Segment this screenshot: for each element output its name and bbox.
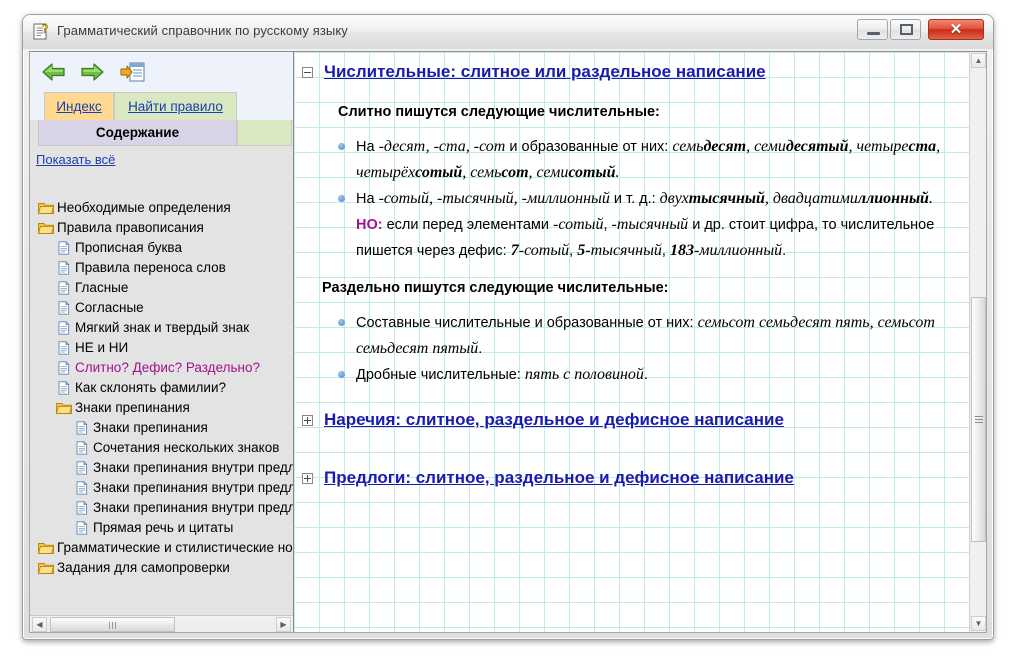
tree-item-label: Мягкий знак и твердый знак: [75, 320, 249, 335]
back-arrow-icon[interactable]: [40, 60, 68, 84]
tree-item[interactable]: Гласные: [30, 278, 293, 298]
tree-item-label: Слитно? Дефис? Раздельно?: [75, 360, 260, 375]
content-vertical-scrollbar[interactable]: ▲ ▼: [969, 52, 986, 632]
bullet-list-1: На -десят, -ста, -сот и образованные от …: [334, 134, 972, 264]
tab-find-rule-label[interactable]: Найти правило: [128, 99, 223, 114]
text-run: -сотый: [553, 216, 603, 233]
text-run: -тысячный: [612, 216, 689, 233]
list-item: Дробные числительные: пять с половиной.: [334, 362, 972, 388]
forward-arrow-icon[interactable]: [78, 60, 106, 84]
page-icon: [56, 381, 72, 395]
application-window: ? Грамматический справочник по русскому …: [22, 14, 994, 640]
tree-item[interactable]: Сочетания нескольких знаков: [30, 438, 293, 458]
tree-item-label: Грамматические и стилистические нормы: [57, 540, 293, 555]
text-run: двадцатими: [773, 190, 858, 207]
text-run: ,: [936, 138, 940, 155]
tab-strip-filler: [237, 120, 292, 146]
text-run: сотый: [568, 164, 615, 181]
text-run: ,: [765, 190, 773, 207]
folder-icon: [38, 221, 54, 235]
tree-item-label: Прямая речь и цитаты: [93, 520, 233, 535]
text-run: семь: [470, 164, 501, 181]
text-run: ста: [909, 138, 937, 155]
tree-item-label: Согласные: [75, 300, 144, 315]
text-run: .: [478, 341, 482, 357]
text-run: -сотый: [519, 242, 569, 259]
tree-item[interactable]: Правила правописания: [30, 218, 293, 238]
text-run: -тысячный: [585, 242, 662, 259]
lead-text-1: Слитно пишутся следующие числительные:: [338, 104, 972, 120]
tree-item[interactable]: Знаки препинания внутри предложения: [30, 478, 293, 498]
collapse-expander-icon[interactable]: [302, 67, 313, 78]
tab-contents-label: Содержание: [96, 125, 179, 140]
svg-text:?: ?: [42, 22, 49, 36]
page-icon: [74, 421, 90, 435]
scrollbar-grip-icon: [109, 622, 118, 629]
scrollbar-grip-icon: [975, 416, 983, 424]
tree-item[interactable]: Знаки препинания: [30, 398, 293, 418]
text-run: На: [356, 139, 379, 155]
tree-item[interactable]: Необходимые определения: [30, 198, 293, 218]
page-icon: [74, 521, 90, 535]
folder-icon: [38, 561, 54, 575]
page-icon: [74, 461, 90, 475]
tab-strip: Индекс Найти правило: [30, 92, 293, 120]
text-run: .: [782, 243, 786, 259]
text-run: ,: [603, 217, 611, 233]
list-item: Составные числительные и образованные от…: [334, 310, 972, 362]
section-heading-3[interactable]: Предлоги: слитное, раздельное и дефисное…: [294, 468, 972, 488]
tree-item[interactable]: Прямая речь и цитаты: [30, 518, 293, 538]
scrollbar-thumb[interactable]: [50, 617, 175, 632]
tab-index-label[interactable]: Индекс: [56, 99, 101, 114]
tree-item-label: Сочетания нескольких знаков: [93, 440, 279, 455]
text-run: сотый: [415, 164, 462, 181]
text-run: ллионный: [858, 190, 929, 207]
tree-item[interactable]: Грамматические и стилистические нормы: [30, 538, 293, 558]
text-run: и образованные от них:: [505, 139, 672, 155]
scroll-down-arrow-icon[interactable]: ▼: [971, 616, 986, 631]
expand-expander-icon[interactable]: [302, 415, 313, 426]
text-run: 7: [511, 242, 519, 259]
page-icon: [56, 261, 72, 275]
close-icon: ✕: [929, 20, 983, 39]
navigation-pane: Индекс Найти правило Содержание Показать…: [30, 52, 294, 632]
scroll-right-arrow-icon[interactable]: ▶: [276, 617, 291, 632]
text-run: десятый: [786, 138, 849, 155]
show-all-link[interactable]: Показать всё: [36, 152, 115, 167]
text-run: .: [616, 164, 620, 181]
text-run: .: [929, 190, 933, 207]
tree-item-label: Правила переноса слов: [75, 260, 226, 275]
text-run: ,: [849, 138, 857, 155]
page-icon: [56, 361, 72, 375]
contents-tree[interactable]: Необходимые определенияПравила правописа…: [30, 198, 293, 592]
title-bar[interactable]: ? Грамматический справочник по русскому …: [23, 15, 993, 49]
text-run: Дробные числительные:: [356, 367, 525, 383]
text-run: тысячный: [689, 190, 765, 207]
text-run: десят: [703, 138, 746, 155]
tree-item[interactable]: Задания для самопроверки: [30, 558, 293, 578]
tree-item-label: Как склонять фамилии?: [75, 380, 226, 395]
list-item: На -сотый, -тысячный, -миллионный и т. д…: [334, 186, 972, 264]
text-run: ,: [529, 164, 537, 181]
text-run: сот: [501, 164, 528, 181]
folder-icon: [56, 401, 72, 415]
tab-find-rule[interactable]: Найти правило: [114, 92, 237, 120]
text-run: -десят, -ста, -сот: [379, 138, 506, 155]
tree-item[interactable]: Согласные: [30, 298, 293, 318]
document-body: Числительные: слитное или раздельное нап…: [294, 52, 972, 632]
scrollbar-thumb[interactable]: [971, 297, 986, 542]
minimize-icon: [867, 32, 880, 35]
show-toc-icon[interactable]: [120, 60, 146, 84]
help-document-icon: ?: [33, 22, 51, 41]
text-run: Составные числительные и образованные от…: [356, 315, 698, 331]
sidebar-horizontal-scrollbar[interactable]: ◀ ▶: [30, 615, 293, 632]
tree-item[interactable]: Мягкий знак и твердый знак: [30, 318, 293, 338]
text-run: ,: [746, 138, 754, 155]
bullet-icon: [338, 143, 345, 150]
page-icon: [56, 241, 72, 255]
tree-item-label: НЕ и НИ: [75, 340, 128, 355]
text-run: 183: [670, 242, 694, 259]
folder-icon: [38, 201, 54, 215]
page-icon: [56, 321, 72, 335]
minimize-button[interactable]: [857, 19, 888, 40]
tab-index[interactable]: Индекс: [44, 92, 114, 120]
tree-item-label: Прописная буква: [75, 240, 182, 255]
tree-item-label: Необходимые определения: [57, 200, 231, 215]
tree-item[interactable]: Как склонять фамилии?: [30, 378, 293, 398]
page-icon: [74, 481, 90, 495]
lead-text-2: Раздельно пишутся следующие числительные…: [322, 280, 972, 296]
tree-item[interactable]: Знаки препинания внутри предложения: [30, 458, 293, 478]
scroll-left-arrow-icon[interactable]: ◀: [32, 617, 47, 632]
tree-item-label: Знаки препинания внутри предложения: [93, 460, 293, 475]
text-run: четырёх: [356, 164, 415, 181]
bullet-icon: [338, 319, 345, 326]
section-heading-1-label[interactable]: Числительные: слитное или раздельное нап…: [324, 62, 766, 81]
section-heading-2[interactable]: Наречия: слитное, раздельное и дефисное …: [294, 410, 972, 430]
text-run: .: [644, 367, 648, 383]
tree-item-label: Знаки препинания: [75, 400, 190, 415]
tree-item[interactable]: НЕ и НИ: [30, 338, 293, 358]
section-heading-3-label[interactable]: Предлоги: слитное, раздельное и дефисное…: [324, 468, 794, 487]
content-pane: Числительные: слитное или раздельное нап…: [294, 52, 986, 632]
tree-item[interactable]: Знаки препинания: [30, 418, 293, 438]
tree-item-label: Знаки препинания внутри предложения: [93, 500, 293, 515]
text-run: пять с половиной: [525, 366, 644, 383]
tab-contents[interactable]: Содержание: [38, 120, 237, 146]
nav-toolbar: [30, 52, 293, 92]
page-icon: [74, 501, 90, 515]
text-run: -сотый, -тысячный, -миллионный: [379, 190, 610, 207]
client-area: Индекс Найти правило Содержание Показать…: [29, 51, 987, 633]
folder-icon: [38, 541, 54, 555]
bullet-list-2: Составные числительные и образованные от…: [334, 310, 972, 388]
text-run: если перед элементами: [383, 217, 553, 233]
expand-expander-icon[interactable]: [302, 473, 313, 484]
section-heading-2-label[interactable]: Наречия: слитное, раздельное и дефисное …: [324, 410, 784, 429]
tree-item-label: Знаки препинания внутри предложения: [93, 480, 293, 495]
page-icon: [56, 301, 72, 315]
list-item: На -десят, -ста, -сот и образованные от …: [334, 134, 972, 186]
tree-item-label: Задания для самопроверки: [57, 560, 230, 575]
tree-item-label: Гласные: [75, 280, 128, 295]
scroll-up-arrow-icon[interactable]: ▲: [971, 53, 986, 68]
text-run: ,: [662, 243, 670, 259]
maximize-button[interactable]: [890, 19, 921, 40]
text-run: четыре: [857, 138, 909, 155]
note-prefix: НО:: [356, 217, 383, 233]
section-heading-1[interactable]: Числительные: слитное или раздельное нап…: [294, 62, 972, 82]
text-run: семи: [754, 138, 786, 155]
text-run: и т. д.:: [610, 191, 660, 207]
tree-item-label: Правила правописания: [57, 220, 204, 235]
tree-item-label: Знаки препинания: [93, 420, 208, 435]
tree-item[interactable]: Прописная буква: [30, 238, 293, 258]
tree-item[interactable]: Знаки препинания внутри предложения: [30, 498, 293, 518]
page-icon: [56, 341, 72, 355]
tree-item[interactable]: Слитно? Дефис? Раздельно?: [30, 358, 293, 378]
tree-item[interactable]: Правила переноса слов: [30, 258, 293, 278]
close-button[interactable]: ✕: [928, 19, 984, 40]
text-run: двух: [660, 190, 689, 207]
bullet-icon: [338, 371, 345, 378]
text-run: На: [356, 191, 379, 207]
text-run: семи: [537, 164, 569, 181]
bullet-icon: [338, 195, 345, 202]
text-run: семь: [672, 138, 703, 155]
window-title: Грамматический справочник по русскому яз…: [57, 23, 348, 38]
maximize-icon: [900, 24, 913, 35]
page-icon: [74, 441, 90, 455]
text-run: -миллионный: [694, 242, 782, 259]
page-icon: [56, 281, 72, 295]
